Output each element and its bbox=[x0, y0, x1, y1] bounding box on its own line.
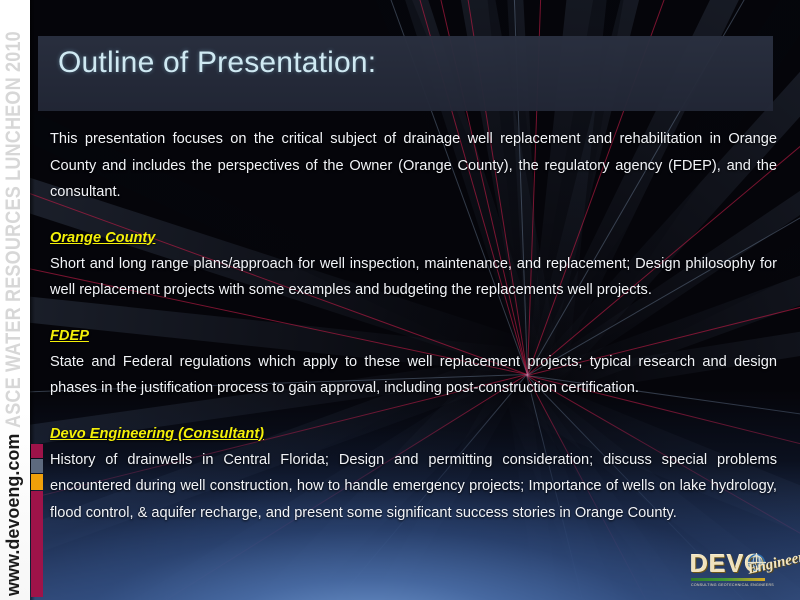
section-devo-engineering: Devo Engineering (Consultant) History of… bbox=[50, 422, 777, 527]
presentation-slide: Outline of Presentation: This presentati… bbox=[0, 0, 800, 600]
section-heading: Orange County bbox=[50, 226, 777, 250]
color-chip-amber bbox=[31, 474, 43, 490]
slide-content: This presentation focuses on the critica… bbox=[50, 126, 777, 526]
accent-bar-magenta bbox=[31, 491, 43, 597]
event-title-vertical: ASCE WATER RESOURCES LUNCHEON 2010 bbox=[2, 31, 26, 428]
website-url-vertical: www.devoeng.com bbox=[3, 434, 24, 596]
intro-paragraph: This presentation focuses on the critica… bbox=[50, 126, 777, 206]
section-body: State and Federal regulations which appl… bbox=[50, 349, 777, 402]
section-body: Short and long range plans/approach for … bbox=[50, 251, 777, 304]
page-title: Outline of Presentation: bbox=[58, 46, 758, 80]
logo-tagline: CONSULTING GEOTECHNICAL ENGINEERS bbox=[691, 583, 774, 587]
section-heading: FDEP bbox=[50, 324, 777, 348]
devo-engineering-logo: DEVO Engineering CONSULTING GEOTECHNICAL… bbox=[690, 548, 794, 596]
section-orange-county: Orange County Short and long range plans… bbox=[50, 226, 777, 304]
color-chip-slate bbox=[31, 459, 43, 473]
logo-rule bbox=[691, 578, 765, 581]
color-chip-magenta bbox=[31, 444, 43, 458]
section-heading: Devo Engineering (Consultant) bbox=[50, 422, 777, 446]
section-fdep: FDEP State and Federal regulations which… bbox=[50, 324, 777, 402]
section-body: History of drainwells in Central Florida… bbox=[50, 447, 777, 527]
